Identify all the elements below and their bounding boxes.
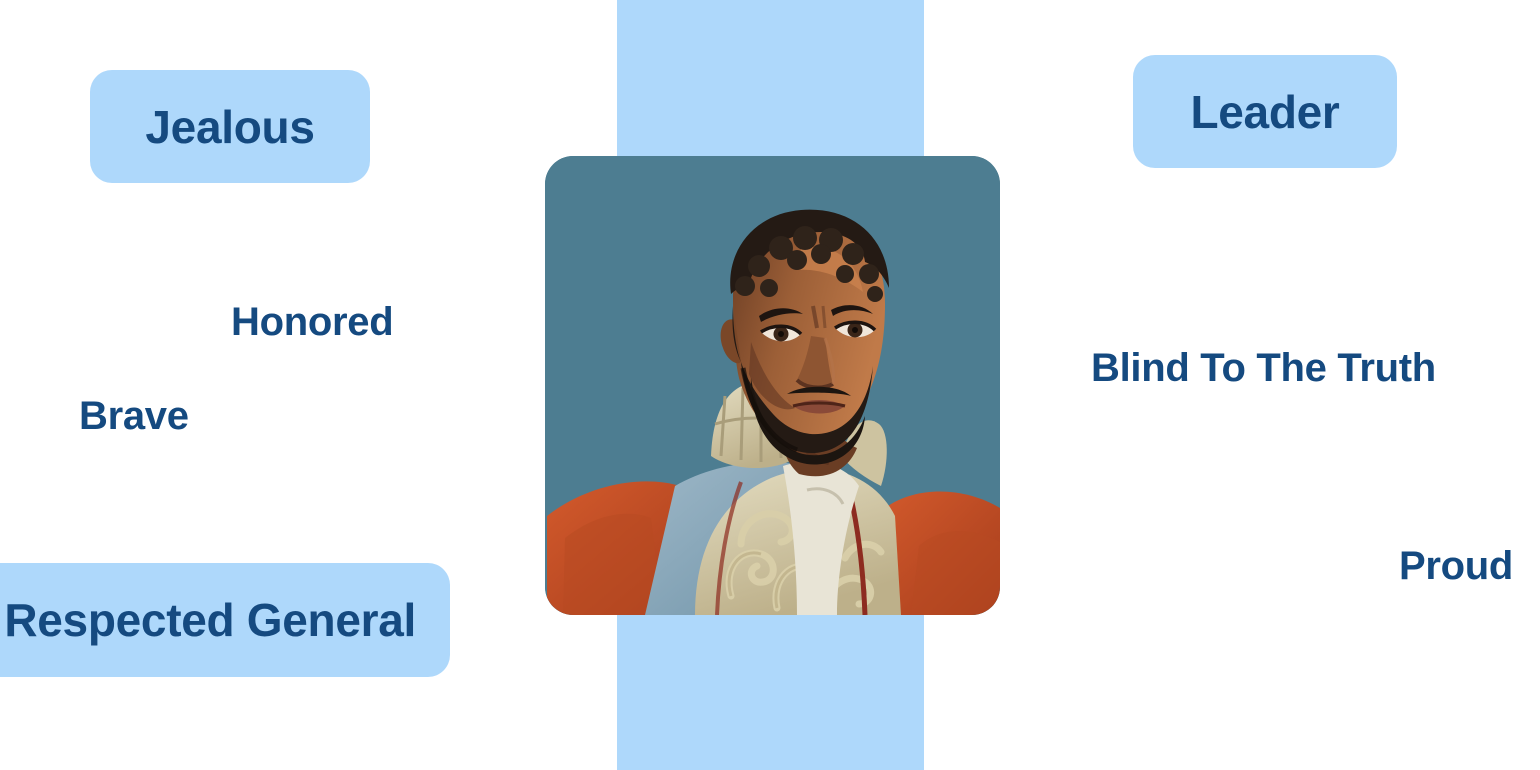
trait-text-brave: Brave xyxy=(79,394,189,439)
trait-pill-leader-label: Leader xyxy=(1190,85,1339,139)
trait-pill-jealous-label: Jealous xyxy=(145,100,314,154)
slide-canvas: Jealous Leader Respected General Honored… xyxy=(0,0,1540,770)
trait-pill-respected-general-label: Respected General xyxy=(4,593,416,647)
trait-text-honored: Honored xyxy=(231,300,393,345)
trait-text-proud: Proud xyxy=(1399,544,1513,589)
trait-pill-leader: Leader xyxy=(1133,55,1397,168)
trait-pill-respected-general: Respected General xyxy=(0,563,450,677)
trait-pill-jealous: Jealous xyxy=(90,70,370,183)
othello-portrait-illustration xyxy=(545,156,1000,615)
othello-portrait-card xyxy=(545,156,1000,615)
trait-text-blind-to-the-truth: Blind To The Truth xyxy=(1091,346,1436,391)
